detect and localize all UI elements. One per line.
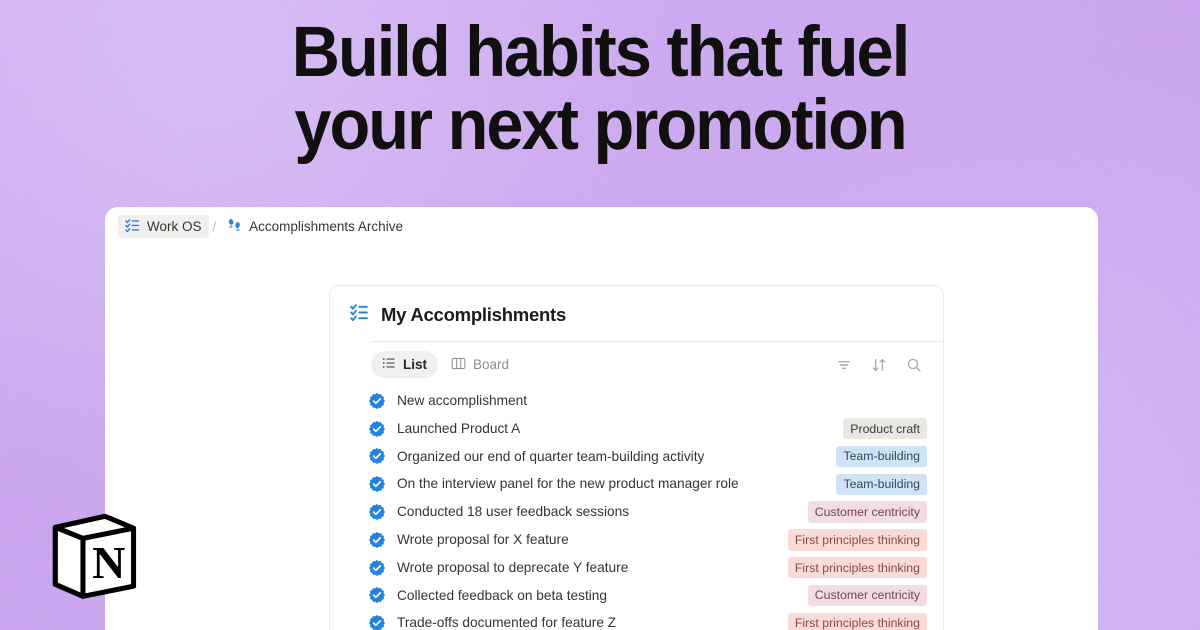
list-item-tag[interactable]: First principles thinking bbox=[788, 529, 927, 550]
list-item[interactable]: New accomplishment bbox=[368, 387, 927, 415]
list-item-tag[interactable]: Team-building bbox=[836, 446, 927, 467]
list-icon bbox=[382, 356, 396, 373]
list-item[interactable]: Launched Product AProduct craft bbox=[368, 415, 927, 443]
list-item-title: Wrote proposal for X feature bbox=[397, 533, 569, 547]
list-item-tag[interactable]: Customer centricity bbox=[808, 585, 927, 606]
list-item-title: Collected feedback on beta testing bbox=[397, 589, 607, 603]
app-window: Work OS / Accomplishments Archive bbox=[105, 207, 1098, 630]
toolbar-actions bbox=[835, 356, 927, 374]
checklist-icon bbox=[125, 218, 140, 236]
verified-check-icon bbox=[368, 586, 386, 604]
checklist-icon bbox=[350, 303, 369, 327]
headline-line-2: your next promotion bbox=[36, 89, 1164, 162]
page-headline: Build habits that fuel your next promoti… bbox=[36, 16, 1164, 162]
breadcrumb-label-work-os: Work OS bbox=[147, 220, 202, 234]
list-item-title: Conducted 18 user feedback sessions bbox=[397, 505, 629, 519]
board-icon bbox=[451, 356, 466, 374]
breadcrumb-item-accomplishments-archive[interactable]: Accomplishments Archive bbox=[220, 215, 410, 238]
tab-label-board: Board bbox=[473, 357, 509, 372]
tab-board[interactable]: Board bbox=[440, 351, 520, 378]
database-header: My Accomplishments bbox=[330, 286, 943, 327]
breadcrumb-label-accomplishments-archive: Accomplishments Archive bbox=[249, 220, 403, 234]
list-item-tag[interactable]: First principles thinking bbox=[788, 557, 927, 578]
list-item[interactable]: Trade-offs documented for feature ZFirst… bbox=[368, 609, 927, 630]
list-item-title: Wrote proposal to deprecate Y feature bbox=[397, 561, 628, 575]
verified-check-icon bbox=[368, 420, 386, 438]
sort-icon[interactable] bbox=[870, 356, 888, 374]
breadcrumb-item-work-os[interactable]: Work OS bbox=[118, 215, 209, 238]
footprints-icon bbox=[227, 218, 242, 236]
notion-logo: N bbox=[48, 508, 140, 600]
verified-check-icon bbox=[368, 475, 386, 493]
list-item-tag[interactable]: Product craft bbox=[843, 418, 927, 439]
tab-list[interactable]: List bbox=[371, 351, 438, 378]
search-icon[interactable] bbox=[905, 356, 923, 374]
view-toolbar: List Board bbox=[330, 342, 943, 380]
headline-line-1: Build habits that fuel bbox=[36, 16, 1164, 89]
list-item[interactable]: On the interview panel for the new produ… bbox=[368, 470, 927, 498]
verified-check-icon bbox=[368, 614, 386, 630]
filter-icon[interactable] bbox=[835, 356, 853, 374]
verified-check-icon bbox=[368, 392, 386, 410]
list-item[interactable]: Wrote proposal to deprecate Y featureFir… bbox=[368, 554, 927, 582]
list-item-title: Trade-offs documented for feature Z bbox=[397, 616, 616, 630]
list-item-title: On the interview panel for the new produ… bbox=[397, 477, 739, 491]
list-item-tag[interactable]: First principles thinking bbox=[788, 613, 927, 630]
page-title: My Accomplishments bbox=[381, 306, 566, 325]
verified-check-icon bbox=[368, 531, 386, 549]
list-item-title: New accomplishment bbox=[397, 394, 527, 408]
accomplishments-list: New accomplishment Launched Product APro… bbox=[330, 380, 943, 630]
list-item-title: Launched Product A bbox=[397, 422, 520, 436]
verified-check-icon bbox=[368, 503, 386, 521]
list-item[interactable]: Organized our end of quarter team-buildi… bbox=[368, 443, 927, 471]
breadcrumb: Work OS / Accomplishments Archive bbox=[105, 207, 1098, 246]
list-item-tag[interactable]: Customer centricity bbox=[808, 501, 927, 522]
list-item-tag[interactable]: Team-building bbox=[836, 474, 927, 495]
tab-label-list: List bbox=[403, 357, 427, 372]
list-item-title: Organized our end of quarter team-buildi… bbox=[397, 450, 704, 464]
breadcrumb-separator: / bbox=[209, 219, 221, 234]
verified-check-icon bbox=[368, 447, 386, 465]
list-item[interactable]: Conducted 18 user feedback sessionsCusto… bbox=[368, 498, 927, 526]
list-item[interactable]: Wrote proposal for X featureFirst princi… bbox=[368, 526, 927, 554]
list-item[interactable]: Collected feedback on beta testingCustom… bbox=[368, 582, 927, 610]
view-tabs: List Board bbox=[371, 351, 520, 378]
notion-logo-letter: N bbox=[92, 537, 125, 588]
database-card: My Accomplishments bbox=[329, 285, 944, 630]
verified-check-icon bbox=[368, 559, 386, 577]
